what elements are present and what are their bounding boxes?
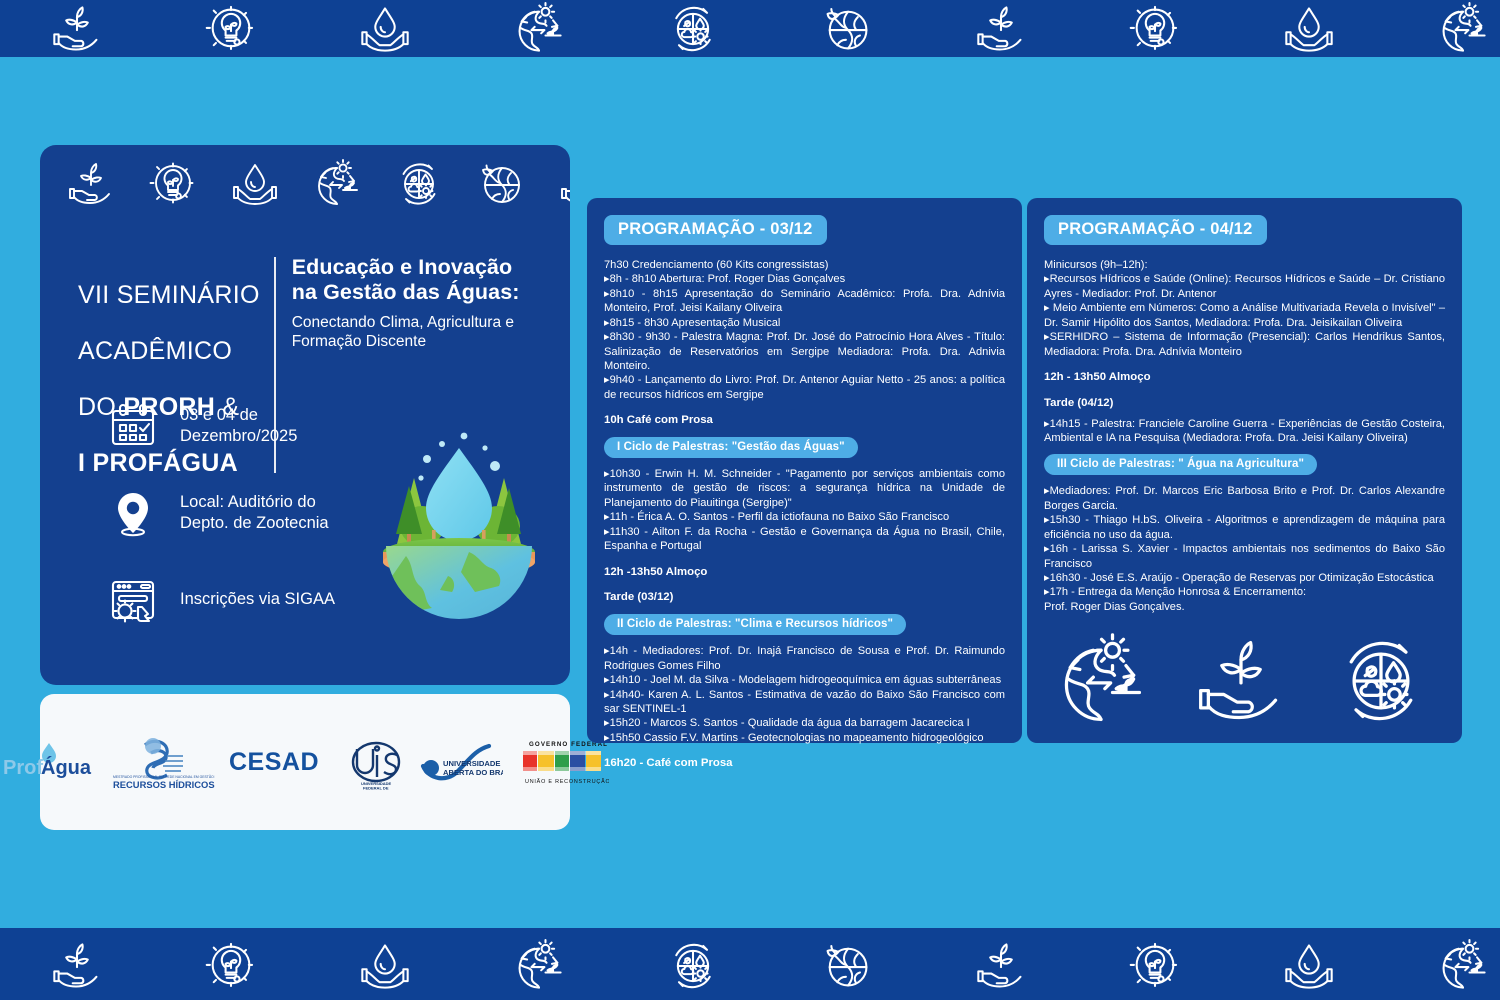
earth-water-cycle-icon	[1411, 2, 1500, 56]
schedule-item: ▸8h10 - 8h15 Apresentação do Seminário A…	[604, 287, 1005, 316]
cesad-logo: CESAD	[229, 748, 319, 777]
spacer	[1044, 359, 1445, 370]
svg-text:Prof: Prof	[3, 757, 43, 779]
schedule-item: ▸15h30 - Thiago H.bS. Oliveira - Algorit…	[1044, 513, 1445, 542]
water-drop-in-hands-icon	[1257, 2, 1361, 56]
sustainability-quadrant-icon	[641, 2, 745, 56]
globe-leaf-icon	[795, 935, 899, 993]
panel-footer-icon-row	[1053, 633, 1429, 729]
schedule-item: ▸16h - Larissa S. Xavier - Impactos ambi…	[1044, 542, 1445, 571]
water-drop-in-hands-icon	[333, 2, 437, 56]
sprout-in-hand-icon	[25, 2, 129, 56]
schedule-item: ▸14h40- Karen A. L. Santos - Estimativa …	[604, 688, 1005, 717]
schedule-item: ▸8h - 8h10 Abertura: Prof. Roger Dias Go…	[604, 272, 1005, 286]
universidade-aberta-do-brasil-logo: UNIVERSIDADE ABERTA DO BRASIL	[419, 738, 503, 786]
section-badge-row: I Ciclo de Palestras: "Gestão das Águas"	[604, 428, 1005, 467]
section-badge: II Ciclo de Palestras: "Clima e Recursos…	[604, 614, 906, 635]
schedule-heading: Tarde (04/12)	[1044, 396, 1445, 411]
spacer	[604, 402, 1005, 413]
schedule-item: ▸Recursos Hídricos e Saúde (Online): Rec…	[1044, 272, 1445, 301]
recursos-hidricos-logo: MESTRADO PROFISSIONAL EM REDE NACIONAL E…	[111, 733, 215, 791]
earth-water-cycle-icon	[1411, 935, 1500, 993]
lightbulb-leaf-icon	[179, 2, 283, 56]
section-badge-row: II Ciclo de Palestras: "Clima e Recursos…	[604, 605, 1005, 644]
sprout-in-hand-icon	[949, 935, 1053, 993]
spacer	[604, 554, 1005, 565]
event-date-text: 03 e 04 de Dezembro/2025	[180, 405, 297, 447]
schedule-item: ▸15h20 - Marcos S. Santos - Qualidade da…	[604, 716, 1005, 730]
schedule-item: ▸11h - Érica A. O. Santos - Perfil da ic…	[604, 510, 1005, 524]
globe-leaf-icon	[468, 159, 534, 209]
schedule-heading: 10h Café com Prosa	[604, 413, 1005, 428]
section-badge: I Ciclo de Palestras: "Gestão das Águas"	[604, 437, 858, 458]
svg-text:ABERTA DO BRASIL: ABERTA DO BRASIL	[443, 768, 503, 777]
spacer	[604, 579, 1005, 590]
schedule-item: ▸16h30 - José E.S. Araújo - Operação de …	[1044, 571, 1445, 585]
calendar-icon	[108, 401, 158, 451]
ufs-logo: UNIVERSIDADE FEDERAL DE	[347, 733, 405, 791]
bottom-decorative-icon-band	[0, 928, 1500, 1000]
schedule-item: 7h30 Credenciamento (60 Kits congressist…	[604, 258, 1005, 272]
schedule-item: Prof. Roger Dias Gonçalves.	[1044, 600, 1445, 614]
lightbulb-leaf-icon	[179, 935, 283, 993]
schedule-heading: Tarde (03/12)	[604, 590, 1005, 605]
spacer	[1044, 385, 1445, 396]
sprout-in-hand-icon	[949, 2, 1053, 56]
hero-card: VII SEMINÁRIO ACADÊMICO DO PRORH & I PRO…	[40, 145, 570, 685]
registration-icon	[108, 575, 158, 625]
water-drop-in-hands-icon	[333, 935, 437, 993]
programme-panel-03-12: PROGRAMAÇÃO - 03/12 7h30 Credenciamento …	[587, 198, 1022, 743]
info-row-location: Local: Auditório do Depto. de Zootecnia	[108, 488, 335, 538]
svg-text:FEDERAL DE: FEDERAL DE	[363, 785, 389, 790]
event-subtitle: Educação e Inovação na Gestão das Águas:	[292, 255, 520, 306]
panel-body-03-12: 7h30 Credenciamento (60 Kits congressist…	[604, 258, 1005, 771]
water-drop-earth-illustration	[364, 426, 554, 621]
schedule-item: ▸SERHIDRO – Sistema de Informação (Prese…	[1044, 330, 1445, 359]
globe-leaf-icon	[795, 2, 899, 56]
svg-text:Água: Água	[41, 756, 92, 779]
event-registration-text: Inscrições via SIGAA	[180, 589, 335, 610]
profagua-logo: Prof Água	[1, 740, 97, 784]
schedule-heading: 12h -13h50 Almoço	[604, 565, 1005, 580]
earth-water-cycle-icon	[304, 159, 370, 209]
water-drop-in-hands-icon	[1257, 935, 1361, 993]
event-location-text: Local: Auditório do Depto. de Zootecnia	[180, 492, 329, 534]
info-row-date: 03 e 04 de Dezembro/2025	[108, 401, 335, 451]
schedule-item: ▸Mediadores: Prof. Dr. Marcos Eric Barbo…	[1044, 484, 1445, 513]
panel-body-04-12: Minicursos (9h–12h):▸Recursos Hídricos e…	[1044, 258, 1445, 614]
section-badge-row: III Ciclo de Palestras: " Água na Agricu…	[1044, 445, 1445, 484]
sustainability-quadrant-icon	[386, 159, 452, 209]
schedule-item: Minicursos (9h–12h):	[1044, 258, 1445, 272]
sprout-in-hand-icon	[25, 935, 129, 993]
panel-header-badge-04-12: PROGRAMAÇÃO - 04/12	[1044, 215, 1267, 245]
earth-water-cycle-icon	[487, 2, 591, 56]
schedule-item: ▸14h - Mediadores: Prof. Dr. Inajá Franc…	[604, 644, 1005, 673]
hero-decorative-icon-row	[40, 159, 570, 209]
section-badge: III Ciclo de Palestras: " Água na Agricu…	[1044, 454, 1317, 475]
cesad-label: CESAD	[229, 748, 319, 777]
programme-panel-04-12: PROGRAMAÇÃO - 04/12 Minicursos (9h–12h):…	[1027, 198, 1462, 743]
schedule-item: ▸17h - Entrega da Menção Honrosa & Encer…	[1044, 585, 1445, 599]
sustainability-quadrant-icon	[1333, 633, 1429, 729]
schedule-item: ▸14h15 - Palestra: Franciele Caroline Gu…	[1044, 417, 1445, 446]
sustainability-quadrant-icon	[641, 935, 745, 993]
schedule-item: ▸14h10 - Joel M. da Silva - Modelagem hi…	[604, 673, 1005, 687]
lightbulb-leaf-icon	[1103, 2, 1207, 56]
schedule-item: ▸15h50 Cassio F.V. Martins - Geotecnolog…	[604, 731, 1005, 745]
svg-text:RECURSOS HÍDRICOS: RECURSOS HÍDRICOS	[113, 779, 215, 790]
svg-text:UNIVERSIDADE: UNIVERSIDADE	[443, 759, 500, 768]
earth-water-cycle-icon	[487, 935, 591, 993]
lightbulb-leaf-icon	[1103, 935, 1207, 993]
governo-federal-brasil-logo: GOVERNO FEDERAL UNIÃO E RECONSTRUÇÃO	[517, 736, 609, 788]
schedule-heading: 16h20 - Café com Prosa	[604, 756, 1005, 771]
sprout-in-hand-icon	[58, 159, 124, 209]
water-drop-in-hands-icon	[222, 159, 288, 209]
schedule-item: ▸9h40 - Lançamento do Livro: Prof. Dr. A…	[604, 373, 1005, 402]
info-row-registration: Inscrições via SIGAA	[108, 575, 335, 625]
lightbulb-leaf-icon	[140, 159, 206, 209]
panel-header-badge-03-12: PROGRAMAÇÃO - 03/12	[604, 215, 827, 245]
schedule-item: ▸10h30 - Erwin H. M. Schneider - "Pagame…	[604, 467, 1005, 510]
event-info-list: 03 e 04 de Dezembro/2025 Local: Auditóri…	[108, 401, 335, 662]
schedule-item: ▸11h30 - Ailton F. da Rocha - Gestão e G…	[604, 525, 1005, 554]
schedule-item: ▸8h15 - 8h30 Apresentação Musical	[604, 316, 1005, 330]
schedule-item: ▸8h30 - 9h30 - Palestra Magna: Prof. Dr.…	[604, 330, 1005, 373]
schedule-item: ▸ Meio Ambiente em Números: Como a Análi…	[1044, 301, 1445, 330]
sponsor-logo-bar: Prof Água MESTRADO PROFISSIONAL EM REDE …	[40, 694, 570, 830]
sprout-in-hand-icon	[550, 159, 570, 209]
sprout-in-hand-icon	[1193, 633, 1289, 729]
schedule-heading: 12h - 13h50 Almoço	[1044, 370, 1445, 385]
earth-water-cycle-icon	[1053, 633, 1149, 729]
top-decorative-icon-band	[0, 0, 1500, 57]
location-pin-icon	[108, 488, 158, 538]
event-tagline: Conectando Clima, Agricultura e Formação…	[292, 313, 520, 352]
svg-text:UNIÃO E RECONSTRUÇÃO: UNIÃO E RECONSTRUÇÃO	[525, 778, 609, 785]
spacer	[604, 745, 1005, 756]
